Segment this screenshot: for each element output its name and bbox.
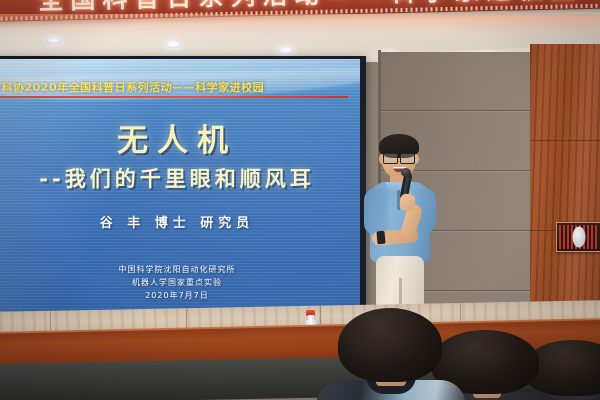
downlight-2: [165, 41, 181, 48]
plaque-medallion: [573, 227, 586, 248]
wood-seam: [530, 140, 600, 141]
slide-affiliation-block: 中国科学院沈阳自动化研究所 机器人学国家重点实验 2020年7月7日: [0, 263, 360, 302]
slide-header-rule: [0, 96, 348, 98]
glasses-icon: [383, 153, 415, 162]
audience-member-front: [330, 308, 450, 400]
lecture-hall-photo: 市科协2020年全国科普日系列活动——科学家进校园 无人机 --我们的千里眼和顺…: [0, 0, 600, 400]
affiliation-line-1: 中国科学院沈阳自动化研究所: [0, 263, 360, 276]
glasses-lens-right: [400, 153, 415, 164]
audience-hair: [338, 308, 442, 382]
wood-panel-column: [530, 44, 600, 344]
projection-screen: 市科协2020年全国科普日系列活动——科学家进校园 无人机 --我们的千里眼和顺…: [0, 59, 360, 313]
wristwatch-icon: [376, 231, 385, 245]
slide-subtitle: --我们的千里眼和顺风耳: [0, 163, 360, 193]
slide-date: 2020年7月7日: [0, 289, 360, 302]
panel-seam: [380, 110, 532, 111]
slide-title: 无人机: [0, 115, 360, 160]
affiliation-line-2: 机器人学国家重点实验: [0, 276, 360, 289]
slide-speaker-name: 谷 丰 博士 研究员: [0, 212, 360, 231]
wood-grain: [530, 44, 600, 344]
wall-plaque: [556, 222, 600, 252]
downlight-3: [278, 47, 294, 54]
slide-header-text: 市科协2020年全国科普日系列活动——科学家进校园: [0, 79, 356, 95]
downlight-1: [46, 37, 62, 44]
presenter-sleeve-left: [364, 188, 388, 234]
glasses-lens-left: [383, 153, 398, 164]
